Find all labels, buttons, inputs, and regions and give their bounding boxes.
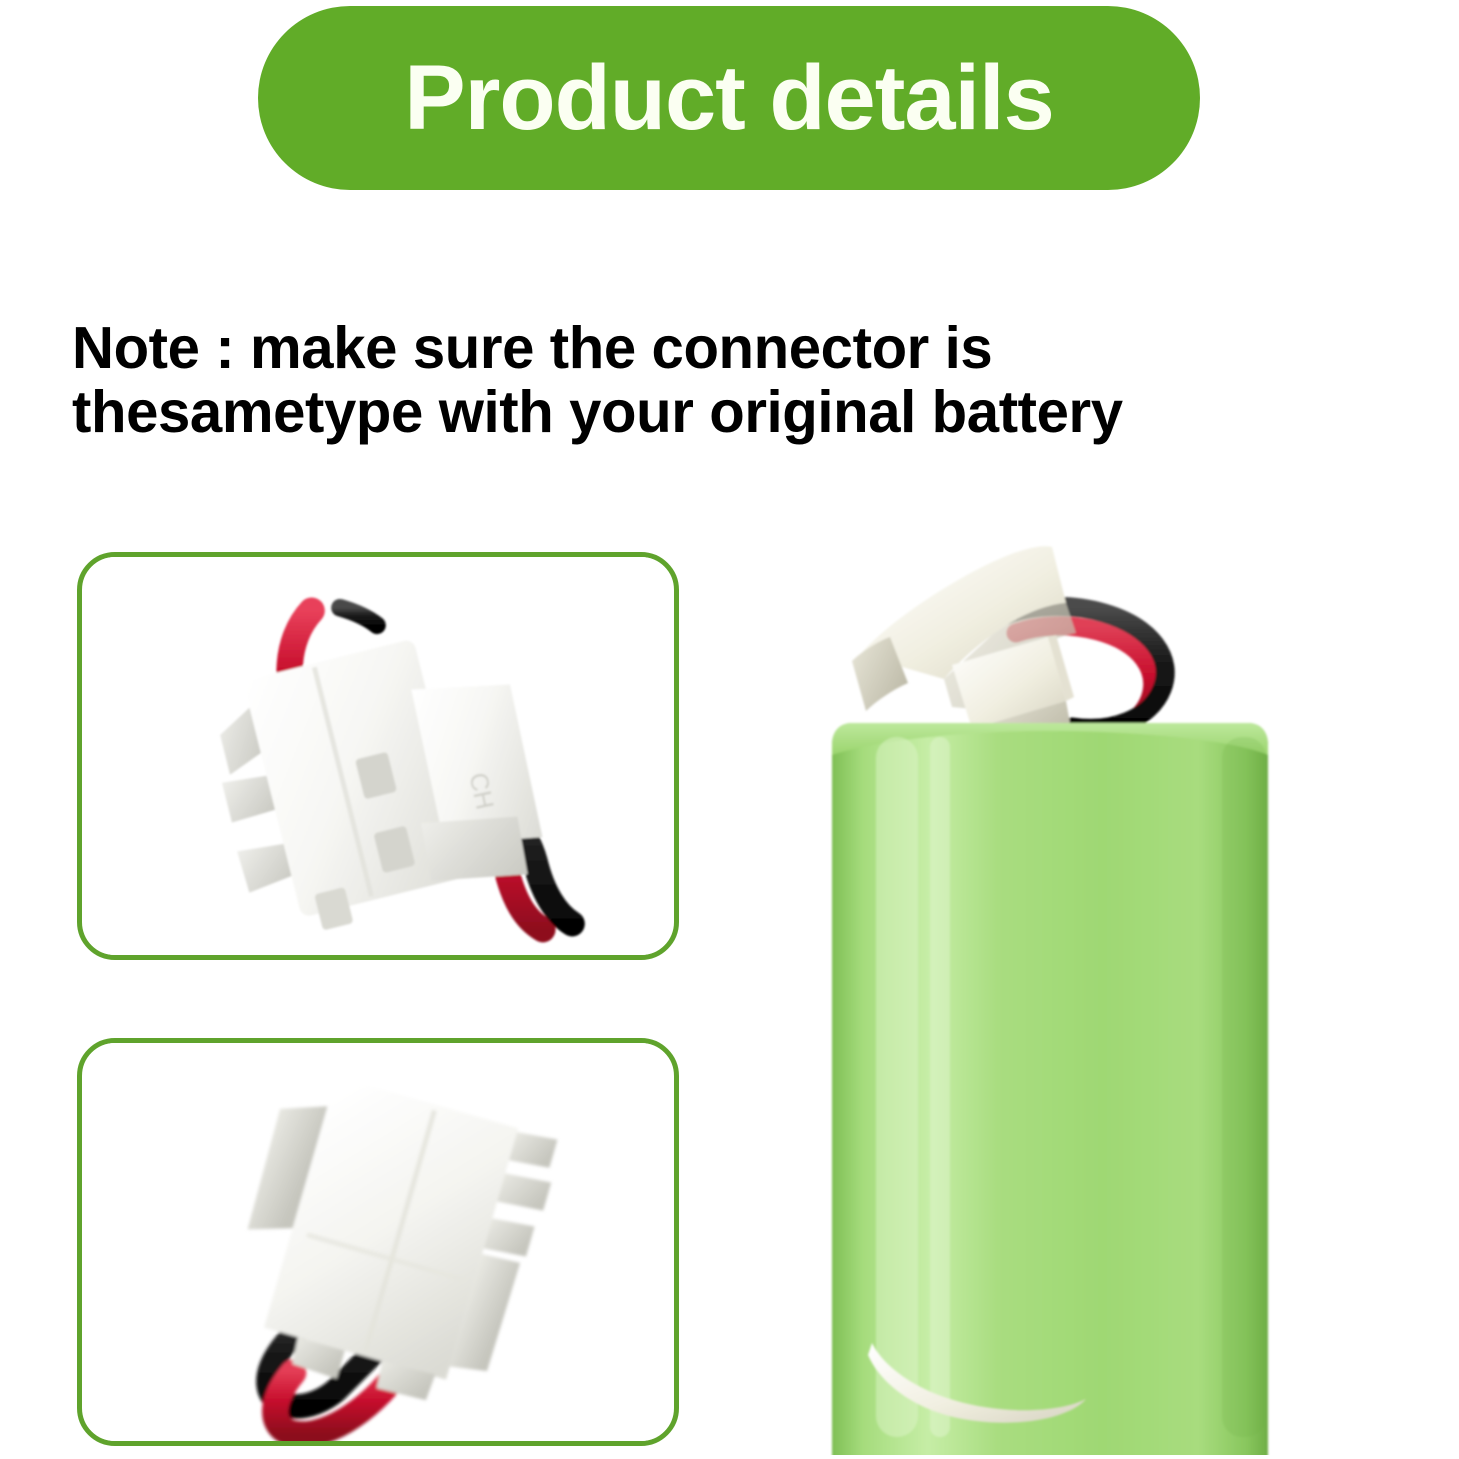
note-line-1: Note : make sure the connector is [72, 316, 1382, 380]
page-title: Product details [404, 52, 1054, 144]
note-line-2: thesametype with your original battery [72, 380, 1382, 444]
connector-photo-panel-bottom [77, 1038, 679, 1446]
product-details-page: Product details Note : make sure the con… [0, 0, 1459, 1459]
battery-figure [830, 455, 1300, 1455]
green-battery-photo [830, 455, 1300, 1455]
connector-plug-photo: CH [82, 557, 674, 955]
note-block: Note : make sure the connector is thesam… [72, 316, 1402, 444]
connector-photo-panel-top: CH [77, 552, 679, 960]
connector-housing-photo [82, 1043, 674, 1441]
header-banner: Product details [258, 6, 1200, 190]
